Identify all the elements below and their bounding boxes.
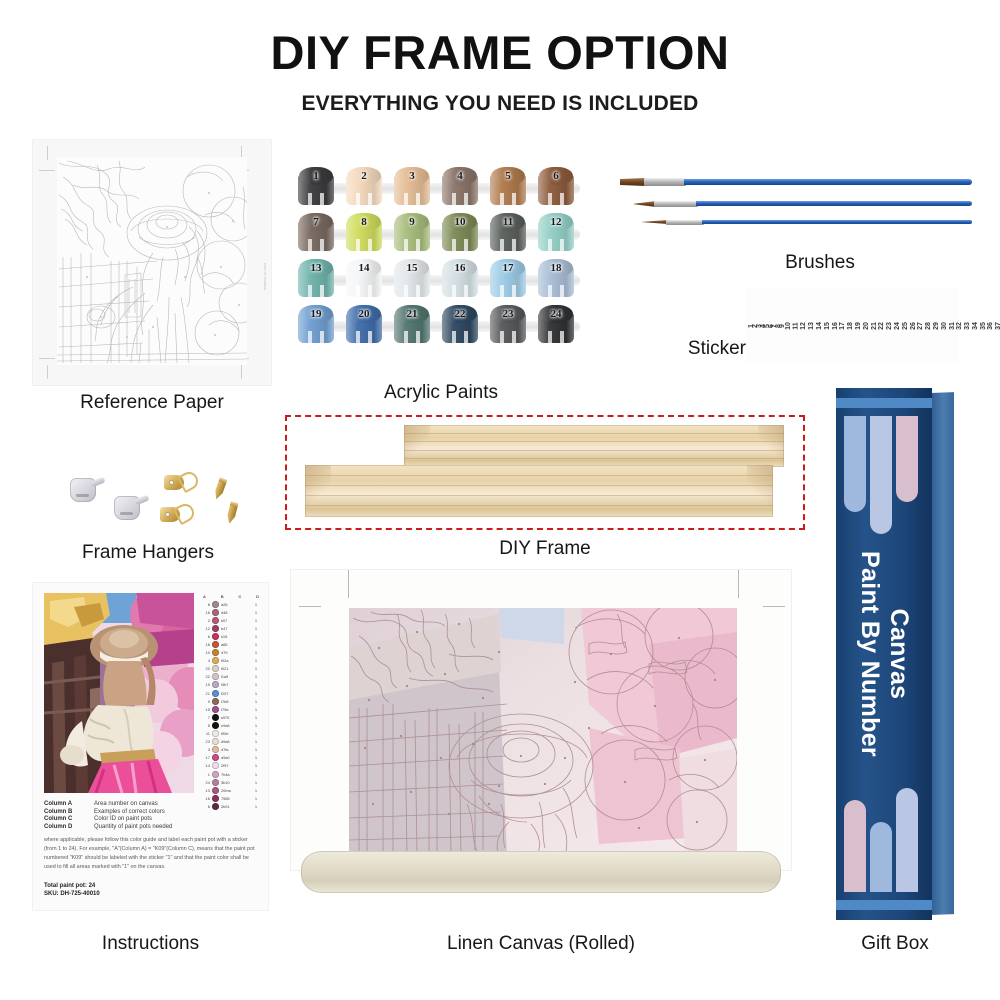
screw (225, 501, 238, 524)
paint-pot-number: 4 (440, 167, 480, 184)
paint-pot-13: 13 (296, 258, 336, 298)
instructions-sheet: ABCD 8a26116d4812k07112b4716k15118a85110… (33, 583, 268, 910)
legend-color-code: d7fa (221, 747, 251, 752)
legend-quantity: 1 (253, 755, 259, 760)
instruction-column-value: Color ID on paint pots (94, 816, 152, 822)
legend-color-swatch (212, 746, 219, 753)
instruction-column-line: Column CColor ID on paint pots (44, 816, 256, 822)
instructions-note: where applicable, please follow this col… (44, 836, 256, 872)
instructions-artwork (44, 593, 194, 793)
instructions-footer: Total paint pot: 24 SKU: DH-725-40010 (44, 883, 256, 899)
diy-frame-label: DIY Frame (285, 538, 805, 560)
paint-pot-6: 6 (536, 166, 576, 206)
legend-color-code: 20ma (221, 788, 251, 793)
legend-row: 5n9a81 (202, 721, 260, 729)
paint-pot-5: 5 (488, 166, 528, 206)
paint-pot-number: 19 (296, 305, 336, 322)
brush-flat-large (620, 178, 972, 187)
legend-area-number: 4 (203, 658, 210, 663)
legend-row: 243b101 (202, 778, 260, 786)
legend-color-swatch (212, 714, 219, 721)
legend-row: 10d791 (202, 649, 260, 657)
legend-quantity: 1 (253, 691, 259, 696)
legend-color-code: d79 (221, 650, 251, 655)
legend-area-number: 3 (203, 747, 210, 752)
paint-pot-23: 23 (488, 304, 528, 344)
legend-area-number: 2 (203, 618, 210, 623)
legend-color-swatch (212, 762, 219, 769)
paint-pot-number: 15 (392, 259, 432, 276)
legend-color-swatch (212, 649, 219, 656)
gift-box-front-panel: Canvas Paint By Number (836, 388, 932, 920)
infographic-root: DIY FRAME OPTION EVERYTHING YOU NEED IS … (0, 0, 1000, 1000)
paint-pot-4: 4 (440, 166, 480, 206)
paint-pot-number: 3 (392, 167, 432, 184)
legend-area-number: 11 (203, 731, 210, 736)
linen-canvas-group (291, 570, 791, 910)
paint-pot-3: 3 (392, 166, 432, 206)
paint-pot-row: 789101112 (296, 212, 586, 252)
paint-pot-row: 123456 (296, 166, 586, 206)
legend-quantity: 1 (253, 682, 259, 687)
legend-column-header: A (203, 594, 206, 599)
legend-row: 17h4a1 (202, 770, 260, 778)
legend-color-swatch (212, 698, 219, 705)
paint-pot-number: 11 (488, 213, 528, 230)
legend-row: 21t2071 (202, 689, 260, 697)
legend-row: 16d481 (202, 608, 260, 616)
legend-color-code: d9a0 (221, 755, 251, 760)
legend-quantity: 1 (253, 772, 259, 777)
brush-handle (696, 201, 972, 206)
gift-box-side-panel (930, 392, 954, 915)
legend-row: 3d7fa1 (202, 746, 260, 754)
gift-box: Canvas Paint By Number (836, 388, 954, 920)
brush-round-medium (634, 200, 972, 209)
frame-bar-top (404, 425, 784, 467)
legend-color-code: a85 (221, 642, 251, 647)
paint-pot-number: 7 (296, 213, 336, 230)
legend-area-number: 7 (203, 715, 210, 720)
legend-area-number: 16 (203, 610, 210, 615)
frame-hangers-group (68, 470, 258, 535)
brush-handle (702, 220, 972, 224)
legend-quantity: 1 (253, 642, 259, 647)
instruction-column-line: Column AArea number on canvas (44, 801, 256, 807)
paint-pot-9: 9 (392, 212, 432, 252)
total-paint-pots: Total paint pot: 24 (44, 883, 256, 889)
legend-color-code: t207 (221, 691, 251, 696)
legend-quantity: 1 (253, 707, 259, 712)
legend-row: 142f971 (202, 762, 260, 770)
diy-frame-box (285, 415, 805, 530)
instruction-column-value: Examples of correct colors (94, 809, 165, 815)
legend-color-code: n9a8 (221, 723, 251, 728)
sticker-label: Sticker (668, 338, 746, 360)
frame-bar-bottom (305, 465, 773, 517)
paint-pot-number: 22 (440, 305, 480, 322)
instruction-column-key: Column B (44, 809, 88, 815)
legend-color-code: k15 (221, 634, 251, 639)
paint-pot-row: 192021222324 (296, 304, 586, 344)
brush-ferrule (644, 178, 686, 186)
legend-quantity: 1 (253, 666, 259, 671)
brush-bristle (642, 220, 668, 224)
legend-quantity: 1 (253, 699, 259, 704)
legend-color-swatch (212, 633, 219, 640)
linen-canvas-artwork (349, 608, 737, 856)
legend-area-number: 1 (203, 772, 210, 777)
acrylic-paints-label: Acrylic Paints (296, 382, 586, 404)
paint-pot-2: 2 (344, 166, 384, 206)
brush-liner-fine (642, 219, 972, 228)
paint-pot-number: 20 (344, 305, 384, 322)
brush-bristle (634, 201, 656, 207)
legend-area-number: 24 (203, 780, 210, 785)
paint-pot-10: 10 (440, 212, 480, 252)
legend-quantity: 1 (253, 763, 259, 768)
legend-color-swatch (212, 641, 219, 648)
legend-area-number: 19 (203, 682, 210, 687)
legend-color-swatch (212, 779, 219, 786)
sku-line: SKU: DH-725-40010 (44, 891, 256, 897)
legend-color-code: 2f97 (221, 763, 251, 768)
brush-ferrule (666, 220, 704, 225)
legend-color-swatch (212, 771, 219, 778)
legend-row: 7s9701 (202, 713, 260, 721)
plastic-hanger (114, 496, 140, 520)
reference-paper: PAINT BY NUMBER (33, 140, 271, 385)
legend-row: 1320ma1 (202, 786, 260, 794)
paint-pot-14: 14 (344, 258, 384, 298)
legend-row: 18a851 (202, 640, 260, 648)
screw (212, 477, 227, 500)
legend-row: 11f90b1 (202, 730, 260, 738)
legend-color-swatch (212, 665, 219, 672)
instruction-column-value: Quantity of paint pots needed (94, 824, 172, 830)
legend-row: 9t7b81 (202, 697, 260, 705)
paint-pot-row: 131415161718 (296, 258, 586, 298)
legend-header-row: ABCD (202, 592, 260, 600)
legend-quantity: 1 (253, 723, 259, 728)
paint-pot-22: 22 (440, 304, 480, 344)
paint-pot-number: 12 (536, 213, 576, 230)
legend-color-swatch (212, 722, 219, 729)
reference-paper-label: Reference Paper (33, 392, 271, 414)
paint-pot-number: 21 (392, 305, 432, 322)
legend-color-code: f90b (221, 731, 251, 736)
paint-pot-number: 16 (440, 259, 480, 276)
legend-column-header: C (238, 594, 241, 599)
legend-color-swatch (212, 738, 219, 745)
paint-pot-number: 23 (488, 305, 528, 322)
legend-quantity: 1 (253, 739, 259, 744)
legend-quantity: 1 (253, 618, 259, 623)
legend-row: 20t0211 (202, 665, 260, 673)
instructions-label: Instructions (33, 933, 268, 955)
legend-quantity: 1 (253, 780, 259, 785)
legend-color-swatch (212, 673, 219, 680)
legend-color-code: t3b7 (221, 682, 251, 687)
legend-color-swatch (212, 754, 219, 761)
legend-area-number: 6 (203, 634, 210, 639)
legend-area-number: 17 (203, 755, 210, 760)
instruction-column-line: Column DQuantity of paint pots needed (44, 824, 256, 830)
legend-quantity: 1 (253, 610, 259, 615)
legend-row: 22l1a91 (202, 673, 260, 681)
paint-pot-number: 9 (392, 213, 432, 230)
paint-pot-number: 10 (440, 213, 480, 230)
legend-quantity: 1 (253, 626, 259, 631)
legend-color-code: t79a (221, 707, 251, 712)
instruction-column-key: Column C (44, 816, 88, 822)
legend-color-code: k07 (221, 618, 251, 623)
plastic-hanger (70, 478, 96, 502)
brushes-group (620, 172, 972, 242)
legend-area-number: 9 (203, 699, 210, 704)
paint-pot-number: 18 (536, 259, 576, 276)
reference-paper-side-text: PAINT BY NUMBER (263, 263, 267, 290)
brush-bristle (620, 178, 646, 186)
page-title: DIY FRAME OPTION (0, 28, 1000, 77)
paint-pot-number: 13 (296, 259, 336, 276)
legend-color-swatch (212, 609, 219, 616)
paint-pot-number: 17 (488, 259, 528, 276)
paint-pot-1: 1 (296, 166, 336, 206)
legend-area-number: 14 (203, 763, 210, 768)
paint-pot-20: 20 (344, 304, 384, 344)
legend-color-code: l1a9 (221, 674, 251, 679)
d-ring-hanger (164, 472, 198, 492)
legend-quantity: 1 (253, 658, 259, 663)
linen-canvas-label: Linen Canvas (Rolled) (291, 933, 791, 955)
acrylic-paints-group: 123456789101112131415161718192021222324 (296, 166, 586, 351)
paint-pot-18: 18 (536, 258, 576, 298)
legend-quantity: 1 (253, 731, 259, 736)
gift-box-label: Gift Box (836, 933, 954, 955)
legend-color-swatch (212, 787, 219, 794)
paint-pot-12: 12 (536, 212, 576, 252)
paint-pot-number: 1 (296, 167, 336, 184)
legend-area-number: 13 (203, 788, 210, 793)
legend-row: 8a261 (202, 600, 260, 608)
legend-quantity: 1 (253, 788, 259, 793)
paint-pot-number: 2 (344, 167, 384, 184)
sticker-number-grid: 1234567891011121314151617181920212223242… (749, 291, 955, 361)
legend-area-number: 21 (203, 691, 210, 696)
legend-area-number: 23 (203, 739, 210, 744)
legend-row: 23d9a81 (202, 738, 260, 746)
legend-color-swatch (212, 625, 219, 632)
legend-color-swatch (212, 706, 219, 713)
legend-row: 4f02a1 (202, 657, 260, 665)
paint-pot-number: 14 (344, 259, 384, 276)
paint-pot-16: 16 (440, 258, 480, 298)
paint-pot-8: 8 (344, 212, 384, 252)
legend-row: 17d9a01 (202, 754, 260, 762)
legend-quantity: 1 (253, 715, 259, 720)
legend-color-swatch (212, 681, 219, 688)
legend-row: 12b471 (202, 624, 260, 632)
legend-area-number: 20 (203, 666, 210, 671)
legend-row: 19t3b71 (202, 681, 260, 689)
legend-color-swatch (212, 657, 219, 664)
paint-pot-number: 8 (344, 213, 384, 230)
legend-color-code: t021 (221, 666, 251, 671)
legend-row: 15t79a1 (202, 705, 260, 713)
legend-quantity: 1 (253, 674, 259, 679)
legend-area-number: 5 (203, 723, 210, 728)
legend-color-code: d48 (221, 610, 251, 615)
paint-pot-number: 6 (536, 167, 576, 184)
legend-area-number: 8 (203, 602, 210, 607)
gift-box-title: Canvas Paint By Number (836, 388, 932, 920)
page-subtitle: EVERYTHING YOU NEED IS INCLUDED (0, 92, 1000, 116)
legend-color-code: b47 (221, 626, 251, 631)
legend-area-number: 15 (203, 707, 210, 712)
sticker-number: 41 (994, 322, 1000, 330)
instruction-column-key: Column D (44, 824, 88, 830)
paint-pot-number: 24 (536, 305, 576, 322)
paint-pot-24: 24 (536, 304, 576, 344)
legend-color-code: d9a8 (221, 739, 251, 744)
brushes-label: Brushes (760, 252, 880, 274)
instructions-color-legend: ABCD 8a26116d4812k07112b4716k15118a85110… (202, 592, 260, 810)
legend-quantity: 1 (253, 602, 259, 607)
d-ring-hanger (160, 504, 194, 524)
paint-pot-7: 7 (296, 212, 336, 252)
legend-quantity: 1 (253, 634, 259, 639)
legend-column-header: B (221, 594, 224, 599)
instructions-column-key: Column AArea number on canvasColumn BExa… (44, 801, 256, 831)
legend-row: 6k151 (202, 632, 260, 640)
legend-color-code: s970 (221, 715, 251, 720)
frame-hangers-label: Frame Hangers (38, 542, 258, 564)
legend-row: 2k071 (202, 616, 260, 624)
paint-pot-11: 11 (488, 212, 528, 252)
paint-pot-19: 19 (296, 304, 336, 344)
legend-color-code: a26 (221, 602, 251, 607)
legend-quantity: 1 (253, 650, 259, 655)
legend-color-code: t7b8 (221, 699, 251, 704)
brush-handle (684, 179, 972, 185)
legend-column-header: D (256, 594, 259, 599)
legend-color-swatch (212, 617, 219, 624)
legend-color-swatch (212, 601, 219, 608)
legend-area-number: 18 (203, 642, 210, 647)
legend-color-swatch (212, 730, 219, 737)
instruction-column-value: Area number on canvas (94, 801, 158, 807)
legend-color-code: f02a (221, 658, 251, 663)
sticker-sheet: 1234567891011121314151617181920212223242… (746, 288, 958, 364)
legend-area-number: 10 (203, 650, 210, 655)
paint-pot-17: 17 (488, 258, 528, 298)
reference-paper-artwork (57, 157, 247, 365)
linen-canvas-roll (301, 851, 781, 893)
legend-color-swatch (212, 690, 219, 697)
legend-quantity: 1 (253, 747, 259, 752)
legend-color-code: 7h4a (221, 772, 251, 777)
instruction-column-key: Column A (44, 801, 88, 807)
paint-pot-15: 15 (392, 258, 432, 298)
paint-pot-number: 5 (488, 167, 528, 184)
legend-area-number: 22 (203, 674, 210, 679)
instruction-column-line: Column BExamples of correct colors (44, 809, 256, 815)
paint-pot-21: 21 (392, 304, 432, 344)
linen-canvas-sheet (291, 570, 791, 870)
legend-color-code: 3b10 (221, 780, 251, 785)
brush-ferrule (654, 201, 698, 207)
legend-area-number: 12 (203, 626, 210, 631)
